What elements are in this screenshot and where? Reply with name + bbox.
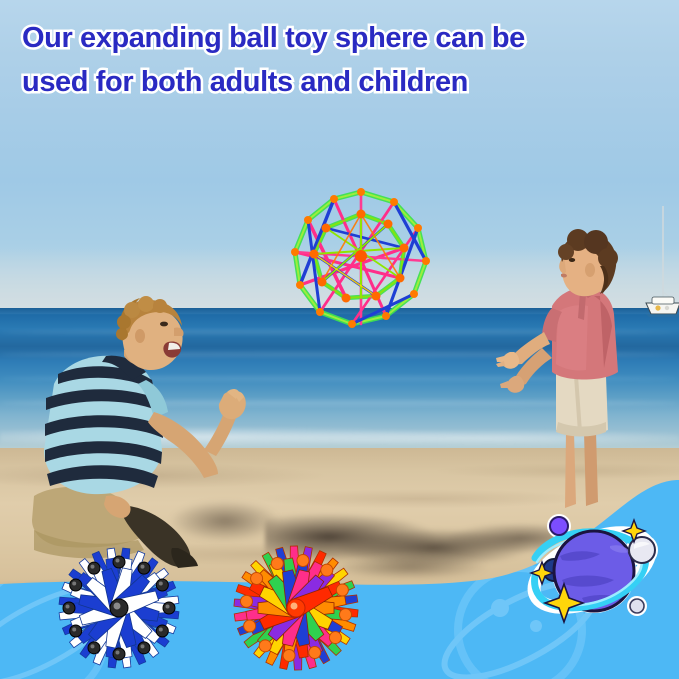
saturn-planet-sticker [526,514,662,632]
headline-line-1: Our expanding ball toy sphere can be [22,22,525,54]
collapsed-ball-blue [46,542,192,674]
page-title: Our expanding ball toy sphere can beused… [22,16,622,104]
collapsed-ball-rainbow [226,540,366,676]
headline-line-2: used for both adults and children [22,66,468,98]
banner-stage: Our expanding ball toy sphere can beused… [0,0,679,679]
expanded-sphere-toy [290,188,432,330]
sailboat [640,204,679,322]
